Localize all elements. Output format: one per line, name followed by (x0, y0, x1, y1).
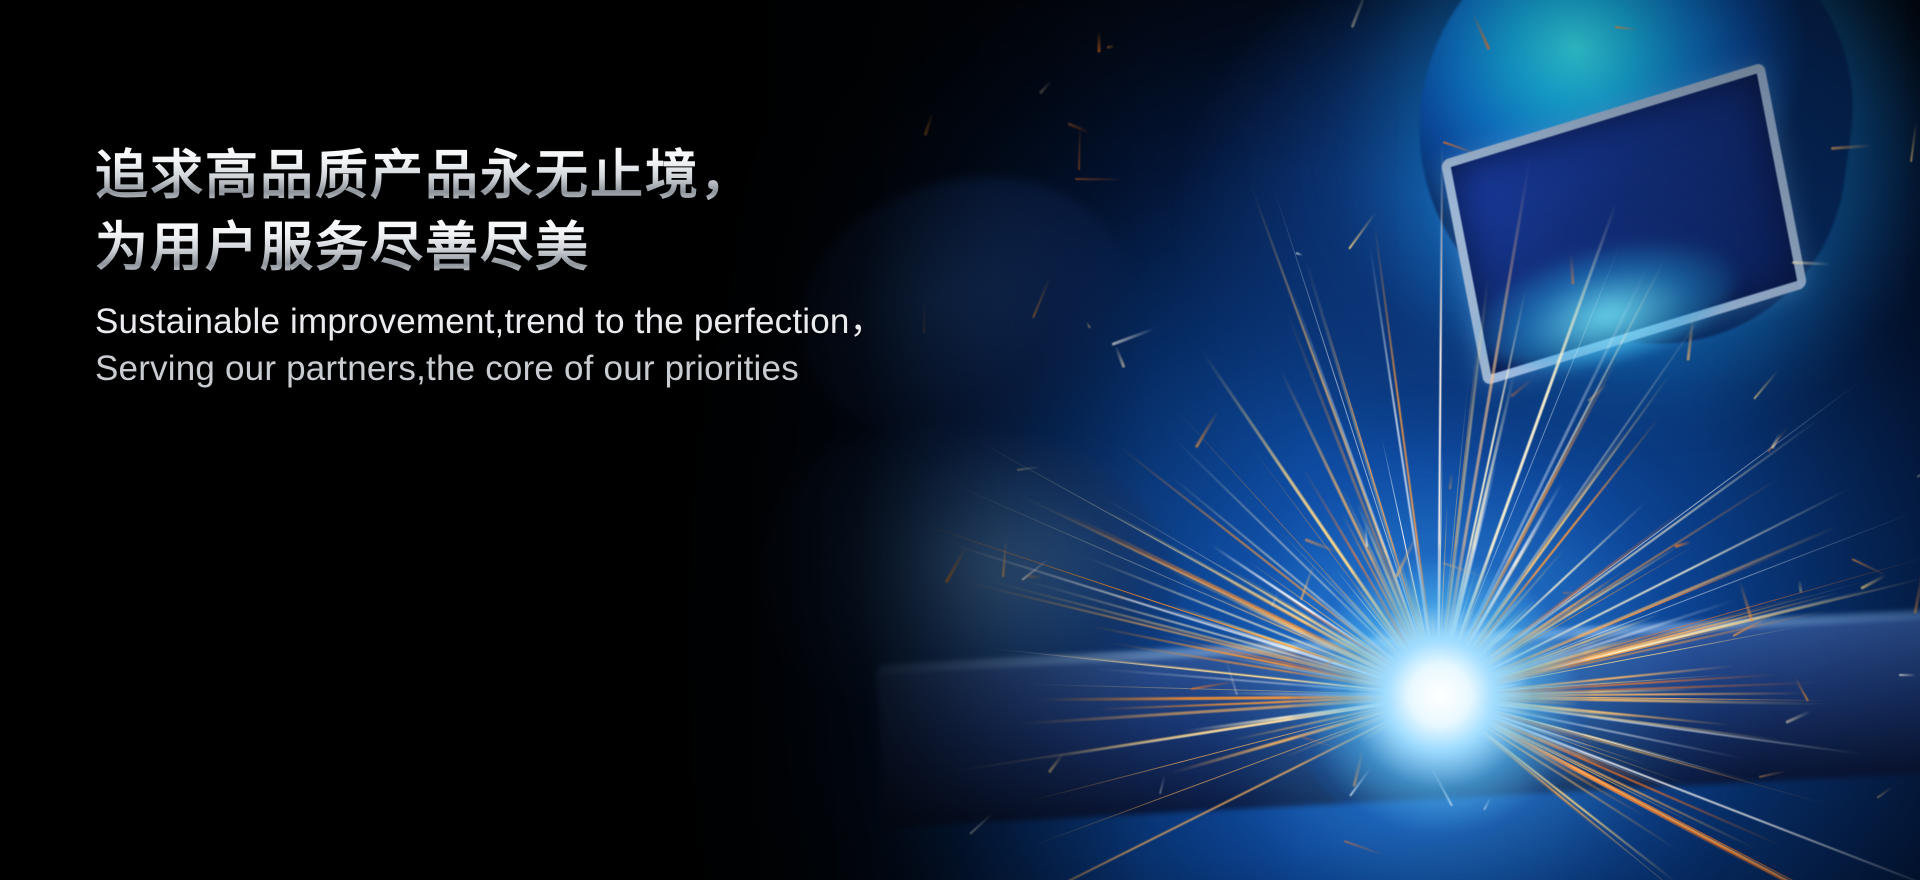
hero-copy: 追求高品质产品永无止境， 为用户服务尽善尽美 Sustainable impro… (95, 140, 1095, 392)
subheadline-block: Sustainable improvement,trend to the per… (95, 298, 1095, 392)
hero-banner: 追求高品质产品永无止境， 为用户服务尽善尽美 Sustainable impro… (0, 0, 1920, 880)
subheadline-line-1: Sustainable improvement,trend to the per… (95, 298, 1095, 345)
headline-line-1: 追求高品质产品永无止境， (95, 140, 1095, 212)
vignette-overlay (0, 0, 1920, 880)
headline-line-2: 为用户服务尽善尽美 (95, 212, 1095, 284)
subheadline-line-2: Serving our partners,the core of our pri… (95, 345, 1095, 392)
welding-photo-background (0, 0, 1920, 880)
